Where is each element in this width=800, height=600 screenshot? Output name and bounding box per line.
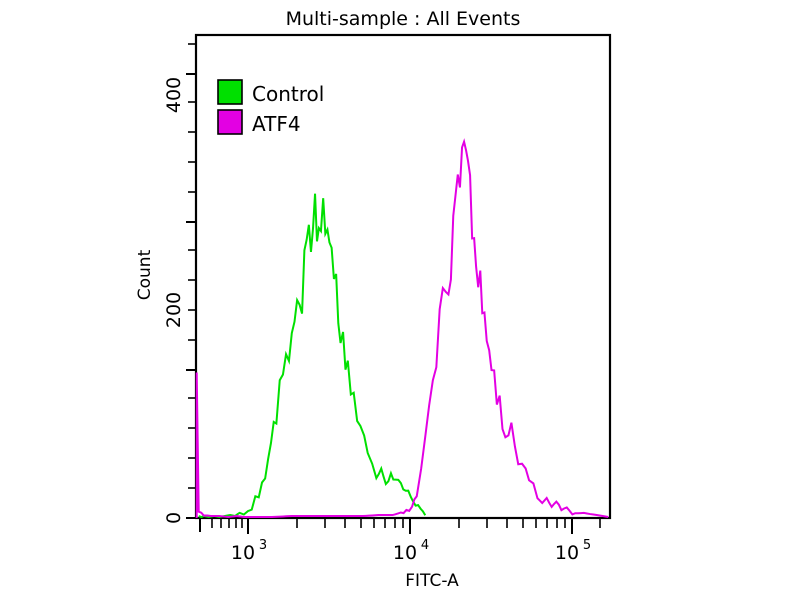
y-tick-label-200: 200 xyxy=(163,292,185,328)
plot-canvas: Multi-sample : All Events 0 200 400 xyxy=(0,0,800,600)
x-tick-label-1e4: 10 xyxy=(393,542,417,564)
x-tick-exponent-4: 4 xyxy=(421,538,429,553)
x-tick-label-1e3: 10 xyxy=(231,542,255,564)
flow-cytometry-histogram: Multi-sample : All Events 0 200 400 xyxy=(0,0,800,600)
chart-title: Multi-sample : All Events xyxy=(286,8,521,30)
y-axis-title: Count xyxy=(135,249,155,300)
legend-label-atf4: ATF4 xyxy=(252,112,301,136)
legend-swatch-control xyxy=(218,80,242,104)
legend-swatch-atf4 xyxy=(218,110,242,134)
x-tick-exponent-5: 5 xyxy=(583,538,591,553)
legend-label-control: Control xyxy=(252,82,324,106)
x-tick-exponent-3: 3 xyxy=(259,538,267,553)
x-tick-label-1e5: 10 xyxy=(555,542,579,564)
plot-background xyxy=(0,0,800,600)
y-tick-label-0: 0 xyxy=(163,512,185,524)
x-axis-title: FITC-A xyxy=(405,571,459,591)
y-tick-label-400: 400 xyxy=(163,77,185,113)
